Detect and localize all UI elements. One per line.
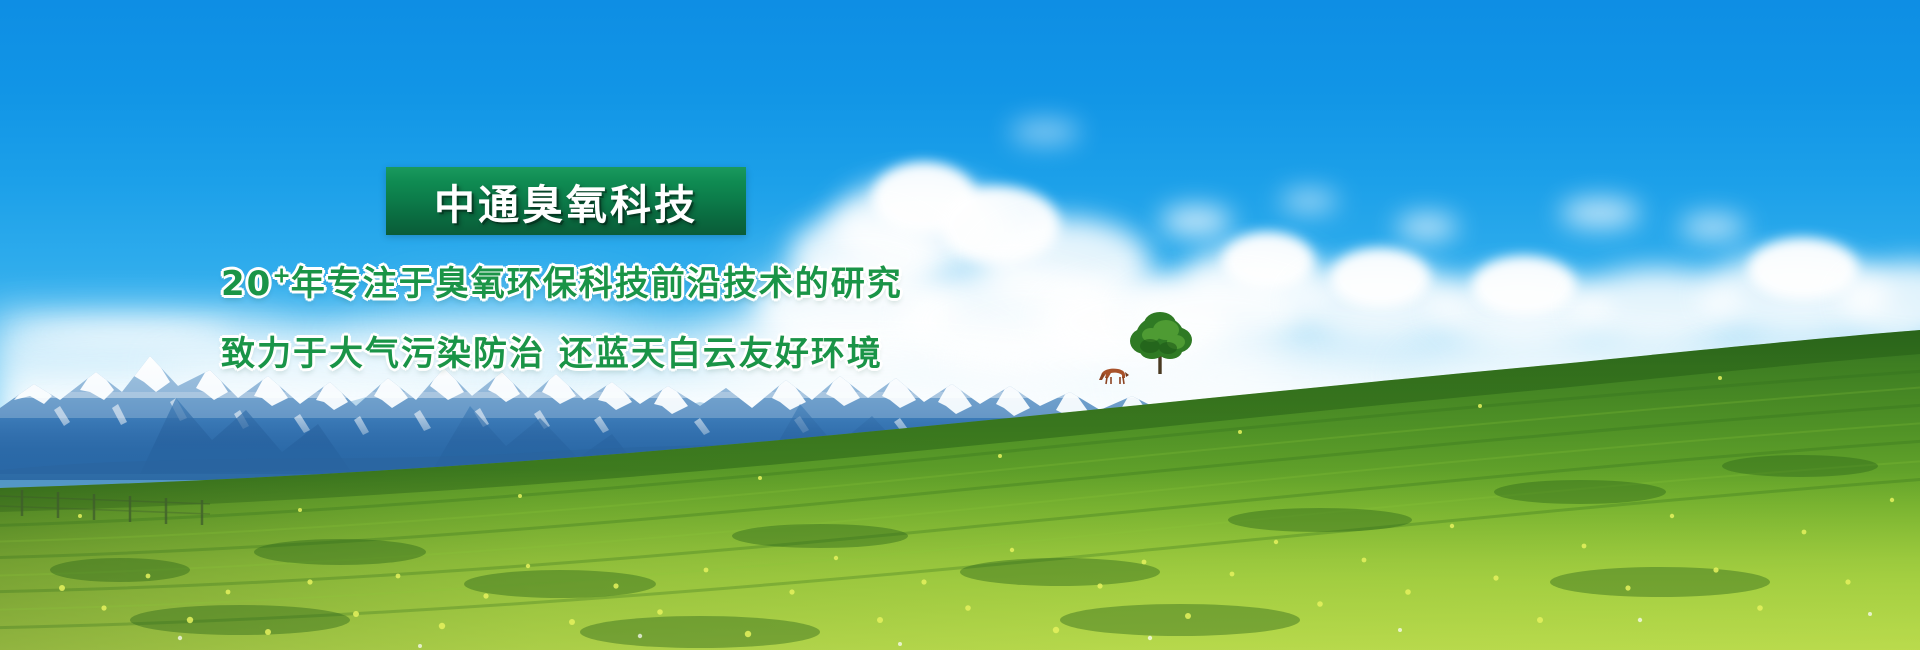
tagline-1-prefix: 20 xyxy=(221,264,272,304)
brand-name: 中通臭氧科技 xyxy=(434,171,698,231)
grazing-horse xyxy=(1096,364,1130,388)
lone-tree xyxy=(1118,308,1204,376)
tagline-line-1: 20+年专注于臭氧环保科技前沿技术的研究 xyxy=(221,256,903,305)
horse-body xyxy=(1101,369,1125,378)
horse-legs xyxy=(1106,377,1124,384)
tagline-1-rest: 年专注于臭氧环保科技前沿技术的研究 xyxy=(291,264,903,304)
hero-banner: 中通臭氧科技 20+年专注于臭氧环保科技前沿技术的研究 致力于大气污染防治 还蓝… xyxy=(0,0,1920,650)
tagline-line-2: 致力于大气污染防治 还蓝天白云友好环境 xyxy=(221,326,883,375)
brand-badge[interactable]: 中通臭氧科技 xyxy=(386,167,746,235)
tagline-2-rest: 致力于大气污染防治 还蓝天白云友好环境 xyxy=(221,334,883,374)
horse-tail xyxy=(1125,372,1129,377)
tagline-1-superscript: + xyxy=(272,264,290,289)
